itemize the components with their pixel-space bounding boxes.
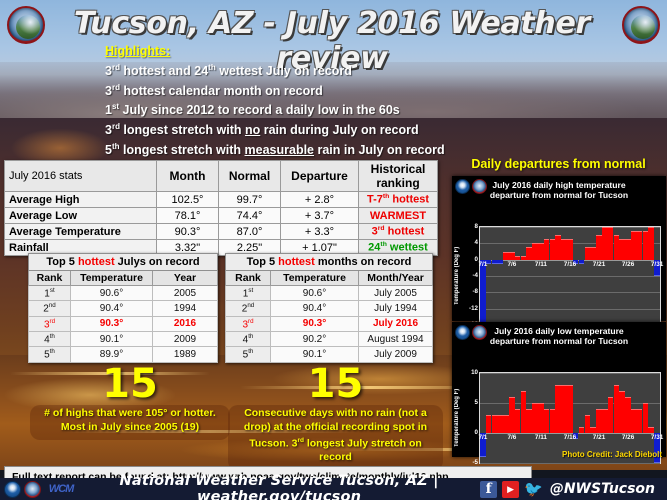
period-cell: July 2005 — [359, 286, 433, 301]
chart-bar — [625, 239, 631, 259]
chart-bar — [480, 260, 486, 325]
period-cell: July 1994 — [359, 301, 433, 316]
y-axis-tick: -4 — [456, 272, 478, 279]
column-temperature: Temperature — [71, 271, 153, 286]
chart-bar — [492, 415, 498, 433]
rank-cell: 1st — [226, 286, 271, 301]
chart-bar — [596, 235, 602, 260]
chart-bar — [521, 256, 527, 260]
chart-bar — [515, 256, 521, 260]
stat-row-label: Average Low — [5, 208, 157, 224]
column-rank: Rank — [226, 271, 271, 286]
infographic-page: Tucson, AZ - July 2016 Weather review Hi… — [0, 0, 667, 500]
x-axis-tick: 7/6 — [507, 434, 516, 441]
stat-normal-value: 99.7° — [219, 192, 281, 208]
x-axis-tick: 7/16 — [564, 261, 576, 268]
chart-bar — [544, 409, 550, 433]
chart-bar — [503, 252, 509, 260]
rank-cell: 5th — [29, 347, 71, 362]
nws-logo-icon — [24, 481, 41, 498]
charts-heading: Daily departures from normal — [452, 157, 665, 171]
chart-bar — [637, 409, 643, 433]
temperature-cell: 90.2° — [271, 331, 359, 346]
temperature-cell: 90.6° — [71, 286, 153, 301]
table-row: Average Temperature90.3°87.0°+ 3.3°3rd h… — [5, 224, 438, 240]
column-year: Year — [153, 271, 218, 286]
table-row: 5th90.1°July 2009 — [226, 347, 433, 362]
y-axis-tick: -12 — [456, 305, 478, 312]
chart-bar — [492, 260, 498, 264]
x-axis-tick: 7/21 — [593, 434, 605, 441]
chart-bar — [567, 239, 573, 259]
x-axis-tick: 7/1 — [478, 261, 487, 268]
x-axis-tick: 7/11 — [535, 434, 547, 441]
chart-bar — [509, 252, 515, 260]
x-axis-tick: 7/1 — [478, 434, 487, 441]
table-row: 2nd90.4°July 1994 — [226, 301, 433, 316]
temperature-cell: 90.4° — [71, 301, 153, 316]
chart-bar — [555, 385, 561, 433]
stats-corner-label: July 2016 stats — [5, 161, 157, 192]
chart-bar — [532, 243, 538, 259]
chart-bar — [585, 415, 591, 433]
y-axis-tick: 0 — [456, 429, 478, 436]
chart-bar — [497, 415, 503, 433]
chart-bar — [515, 409, 521, 433]
chart-bar — [532, 403, 538, 433]
chart-bar — [550, 239, 556, 259]
title-bar: Tucson, AZ - July 2016 Weather review — [0, 2, 667, 46]
footer-logos: WCM — [0, 481, 78, 498]
rank-cell: 2nd — [226, 301, 271, 316]
temperature-cell: 90.1° — [271, 347, 359, 362]
nws-tucson-logo-icon — [7, 6, 45, 44]
rank-cell: 5th — [226, 347, 271, 362]
chart-bar — [590, 427, 596, 433]
agency-logos — [455, 179, 487, 194]
noaa-logo-icon — [4, 481, 21, 498]
x-axis-tick: 7/21 — [593, 261, 605, 268]
x-axis-tick: 7/31 — [651, 434, 663, 441]
stat-departure-value: + 3.3° — [281, 224, 359, 240]
chart-bar — [555, 235, 561, 260]
chart-bar — [631, 409, 637, 433]
period-cell: August 1994 — [359, 331, 433, 346]
photo-credit: Photo Credit: Jack Diebolt — [562, 450, 662, 459]
chart-bar — [643, 403, 649, 433]
x-axis-tick: 7/6 — [507, 261, 516, 268]
stat-departure-value: + 3.7° — [281, 208, 359, 224]
july-stats-table: July 2016 stats Month Normal Departure H… — [4, 160, 438, 256]
top5-julys-caption: Top 5 hottest Julys on record — [29, 254, 218, 271]
stat-historical-ranking: T-7th hottest — [359, 192, 438, 208]
x-axis-tick: 7/31 — [651, 261, 663, 268]
rank-cell: 1st — [29, 286, 71, 301]
rank-cell: 2nd — [29, 301, 71, 316]
chart-bar — [585, 247, 591, 259]
stat-row-label: Average High — [5, 192, 157, 208]
stat-row-label: Average Temperature — [5, 224, 157, 240]
column-temperature: Temperature — [271, 271, 359, 286]
table-row: 1st90.6°2005 — [29, 286, 218, 301]
y-axis-tick: -8 — [456, 288, 478, 295]
chart-bar — [579, 427, 585, 433]
y-axis-tick: 10 — [456, 369, 478, 376]
column-historical-ranking: Historical ranking — [359, 161, 438, 192]
chart-bar — [648, 427, 654, 433]
column-normal: Normal — [219, 161, 281, 192]
callout-caption: # of highs that were 105° or hotter. Mos… — [36, 407, 224, 434]
chart-bar — [643, 231, 649, 260]
stat-normal-value: 87.0° — [219, 224, 281, 240]
highlight-item: 3rd hottest and 24th wettest July on rec… — [105, 60, 535, 80]
noaa-logo-icon — [455, 325, 470, 340]
table-header-row: Rank Temperature Year — [29, 271, 218, 286]
y-axis-label: Temperature (Deg F) — [454, 372, 460, 464]
temperature-cell: 90.6° — [271, 286, 359, 301]
x-axis-tick: 7/16 — [564, 434, 576, 441]
temperature-cell: 90.1° — [71, 331, 153, 346]
chart-bar — [602, 409, 608, 433]
chart-bar — [608, 227, 614, 260]
table-row: 1st90.6°July 2005 — [226, 286, 433, 301]
table-row: 4th90.1°2009 — [29, 331, 218, 346]
chart-bar — [561, 385, 567, 433]
table-row: 3rd90.3°July 2016 — [226, 316, 433, 331]
x-axis-tick: 7/11 — [535, 261, 547, 268]
callout-number: 15 — [30, 363, 230, 405]
stat-callout-hot-days: 15 # of highs that were 105° or hotter. … — [30, 363, 230, 440]
chart-bar — [614, 235, 620, 260]
stat-month-value: 90.3° — [157, 224, 219, 240]
y-axis-tick: 5 — [456, 399, 478, 406]
gridline — [480, 373, 660, 374]
table-row: 5th89.9°1989 — [29, 347, 218, 362]
table-row: 4th90.2°August 1994 — [226, 331, 433, 346]
chart-bar — [648, 227, 654, 260]
footer-agency-text: National Weather Service Tucson, AZ | we… — [78, 473, 480, 500]
table-row: 3rd90.3°2016 — [29, 316, 218, 331]
period-cell: 2009 — [153, 331, 218, 346]
chart-bar — [596, 409, 602, 433]
footer-bar: WCM National Weather Service Tucson, AZ … — [0, 478, 667, 500]
x-axis-tick: 7/26 — [622, 261, 634, 268]
temperature-cell: 90.3° — [271, 316, 359, 331]
chart-bar — [608, 397, 614, 433]
chart-bar — [625, 397, 631, 433]
stat-month-value: 102.5° — [157, 192, 219, 208]
nws-logo-icon — [472, 325, 487, 340]
daily-high-departure-chart: July 2016 daily high temperature departu… — [452, 176, 666, 321]
gridline — [480, 292, 660, 293]
callout-caption: Consecutive days with no rain (not a dro… — [234, 407, 437, 465]
y-axis-tick: 8 — [456, 223, 478, 230]
daily-low-departure-chart: July 2016 daily low temperature departur… — [452, 322, 666, 457]
temperature-cell: 90.3° — [71, 316, 153, 331]
column-rank: Rank — [29, 271, 71, 286]
chart-bar — [561, 239, 567, 259]
agency-logos — [455, 325, 487, 340]
table-row: 2nd90.4°1994 — [29, 301, 218, 316]
gridline — [480, 227, 660, 228]
rank-cell: 4th — [29, 331, 71, 346]
callout-number: 15 — [228, 363, 443, 405]
highlight-item: 3rd longest stretch with no rain during … — [105, 119, 535, 139]
chart-bar — [538, 403, 544, 433]
table-row: Average Low78.1°74.4°+ 3.7°WARMEST — [5, 208, 438, 224]
period-cell: July 2016 — [359, 316, 433, 331]
chart-bar — [579, 260, 585, 264]
column-departure: Departure — [281, 161, 359, 192]
chart-bar — [497, 260, 503, 264]
temperature-cell: 90.4° — [271, 301, 359, 316]
y-axis-tick: 0 — [456, 256, 478, 263]
chart-bar — [631, 231, 637, 260]
column-month-year: Month/Year — [359, 271, 433, 286]
stat-callout-dry-streak: 15 Consecutive days with no rain (not a … — [228, 363, 443, 471]
plot-area: 840-4-8-12-167/17/67/117/167/217/267/31 — [479, 226, 661, 326]
gridline — [480, 463, 660, 464]
stat-normal-value: 74.4° — [219, 208, 281, 224]
chart-bar — [567, 385, 573, 433]
rank-cell: 4th — [226, 331, 271, 346]
stat-historical-ranking: 3rd hottest — [359, 224, 438, 240]
period-cell: 2005 — [153, 286, 218, 301]
chart-bar — [526, 409, 532, 433]
chart-bar — [602, 227, 608, 260]
wcm-logo-icon: WCM — [44, 482, 78, 496]
highlights-block: Highlights: 3rd hottest and 24th wettest… — [105, 44, 535, 158]
top5-julys-table: Top 5 hottest Julys on record Rank Tempe… — [28, 253, 218, 363]
twitter-icon[interactable]: 🐦 — [524, 480, 543, 498]
period-cell: July 2009 — [359, 347, 433, 362]
nws-logo-icon — [472, 179, 487, 194]
social-links: f ▶ 🐦 @NWSTucson — [480, 480, 667, 498]
highlight-item: 5th longest stretch with measurable rain… — [105, 139, 535, 159]
chart-bar — [550, 409, 556, 433]
chart-bar — [619, 239, 625, 259]
highlight-item: 1st July since 2012 to record a daily lo… — [105, 99, 535, 119]
rank-cell: 3rd — [226, 316, 271, 331]
youtube-icon[interactable]: ▶ — [502, 481, 519, 498]
chart-bar — [526, 247, 532, 259]
stat-departure-value: + 2.8° — [281, 192, 359, 208]
table-header-row: July 2016 stats Month Normal Departure H… — [5, 161, 438, 192]
chart-bar — [486, 415, 492, 433]
highlights-heading: Highlights: — [105, 44, 535, 58]
table-header-row: Rank Temperature Month/Year — [226, 271, 433, 286]
chart-bar — [538, 243, 544, 259]
temperature-cell: 89.9° — [71, 347, 153, 362]
table-row: Average High102.5°99.7°+ 2.8°T-7th hotte… — [5, 192, 438, 208]
column-month: Month — [157, 161, 219, 192]
chart-bar — [509, 397, 515, 433]
chart-bar — [544, 239, 550, 259]
noaa-logo-icon — [455, 179, 470, 194]
highlight-item: 3rd hottest calendar month on record — [105, 80, 535, 100]
twitter-handle[interactable]: @NWSTucson — [548, 481, 661, 497]
chart-bar — [619, 391, 625, 433]
stat-historical-ranking: WARMEST — [359, 208, 438, 224]
chart-bar — [590, 247, 596, 259]
chart-bar — [503, 415, 509, 433]
rank-cell: 3rd — [29, 316, 71, 331]
y-axis-tick: 4 — [456, 239, 478, 246]
y-axis-tick: -5 — [456, 459, 478, 466]
period-cell: 1994 — [153, 301, 218, 316]
gridline — [480, 309, 660, 310]
facebook-icon[interactable]: f — [480, 481, 497, 498]
period-cell: 1989 — [153, 347, 218, 362]
period-cell: 2016 — [153, 316, 218, 331]
nws-tucson-logo-icon — [622, 6, 660, 44]
chart-bar — [521, 391, 527, 433]
gridline — [480, 276, 660, 277]
top5-months-caption: Top 5 hottest months on record — [226, 254, 433, 271]
stat-month-value: 78.1° — [157, 208, 219, 224]
chart-bar — [614, 385, 620, 433]
chart-bar — [637, 231, 643, 260]
top5-months-table: Top 5 hottest months on record Rank Temp… — [225, 253, 433, 363]
x-axis-tick: 7/26 — [622, 434, 634, 441]
